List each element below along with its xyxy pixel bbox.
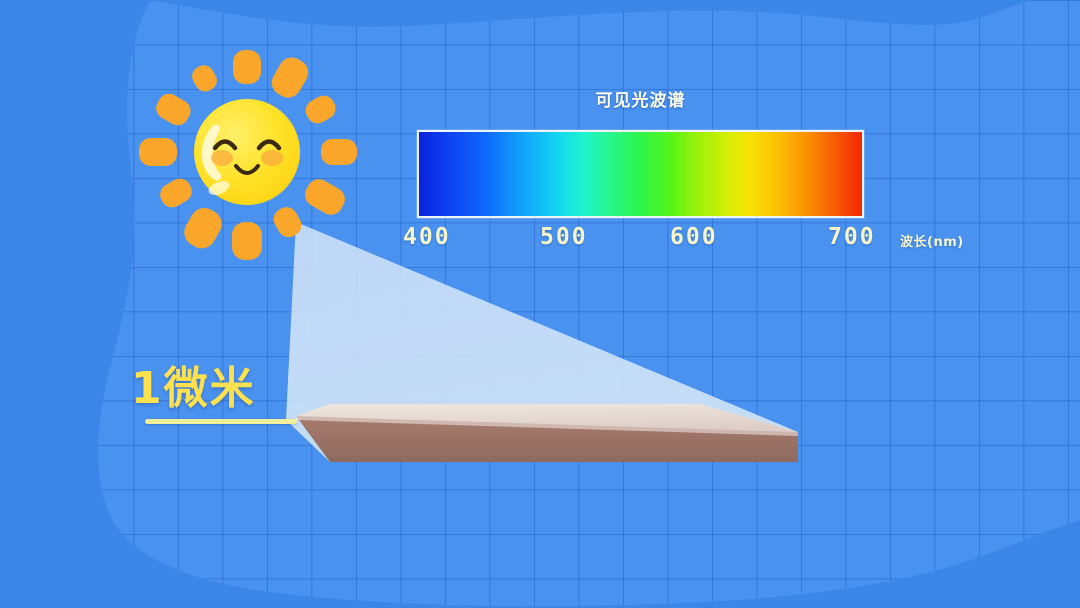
sun-cheek-right bbox=[261, 150, 283, 166]
spectrum-bar-container bbox=[417, 130, 864, 218]
illustration-canvas: 可见光波谱 400 500 600 700 波长(nm) 1微米 bbox=[0, 0, 1080, 608]
spectrum-title: 可见光波谱 bbox=[417, 86, 864, 111]
spectrum-axis-unit: 波长(nm) bbox=[900, 231, 964, 250]
spectrum-gradient-bar bbox=[419, 132, 862, 216]
sun-cheek-left bbox=[211, 150, 233, 166]
measurement-label: 1微米 bbox=[131, 352, 256, 416]
spectrum-tick-700: 700 bbox=[828, 224, 876, 250]
measurement-underline bbox=[145, 419, 297, 424]
spectrum-tick-600: 600 bbox=[670, 224, 718, 250]
spectrum-tick-500: 500 bbox=[540, 224, 588, 250]
spectrum-tick-400: 400 bbox=[403, 224, 451, 250]
